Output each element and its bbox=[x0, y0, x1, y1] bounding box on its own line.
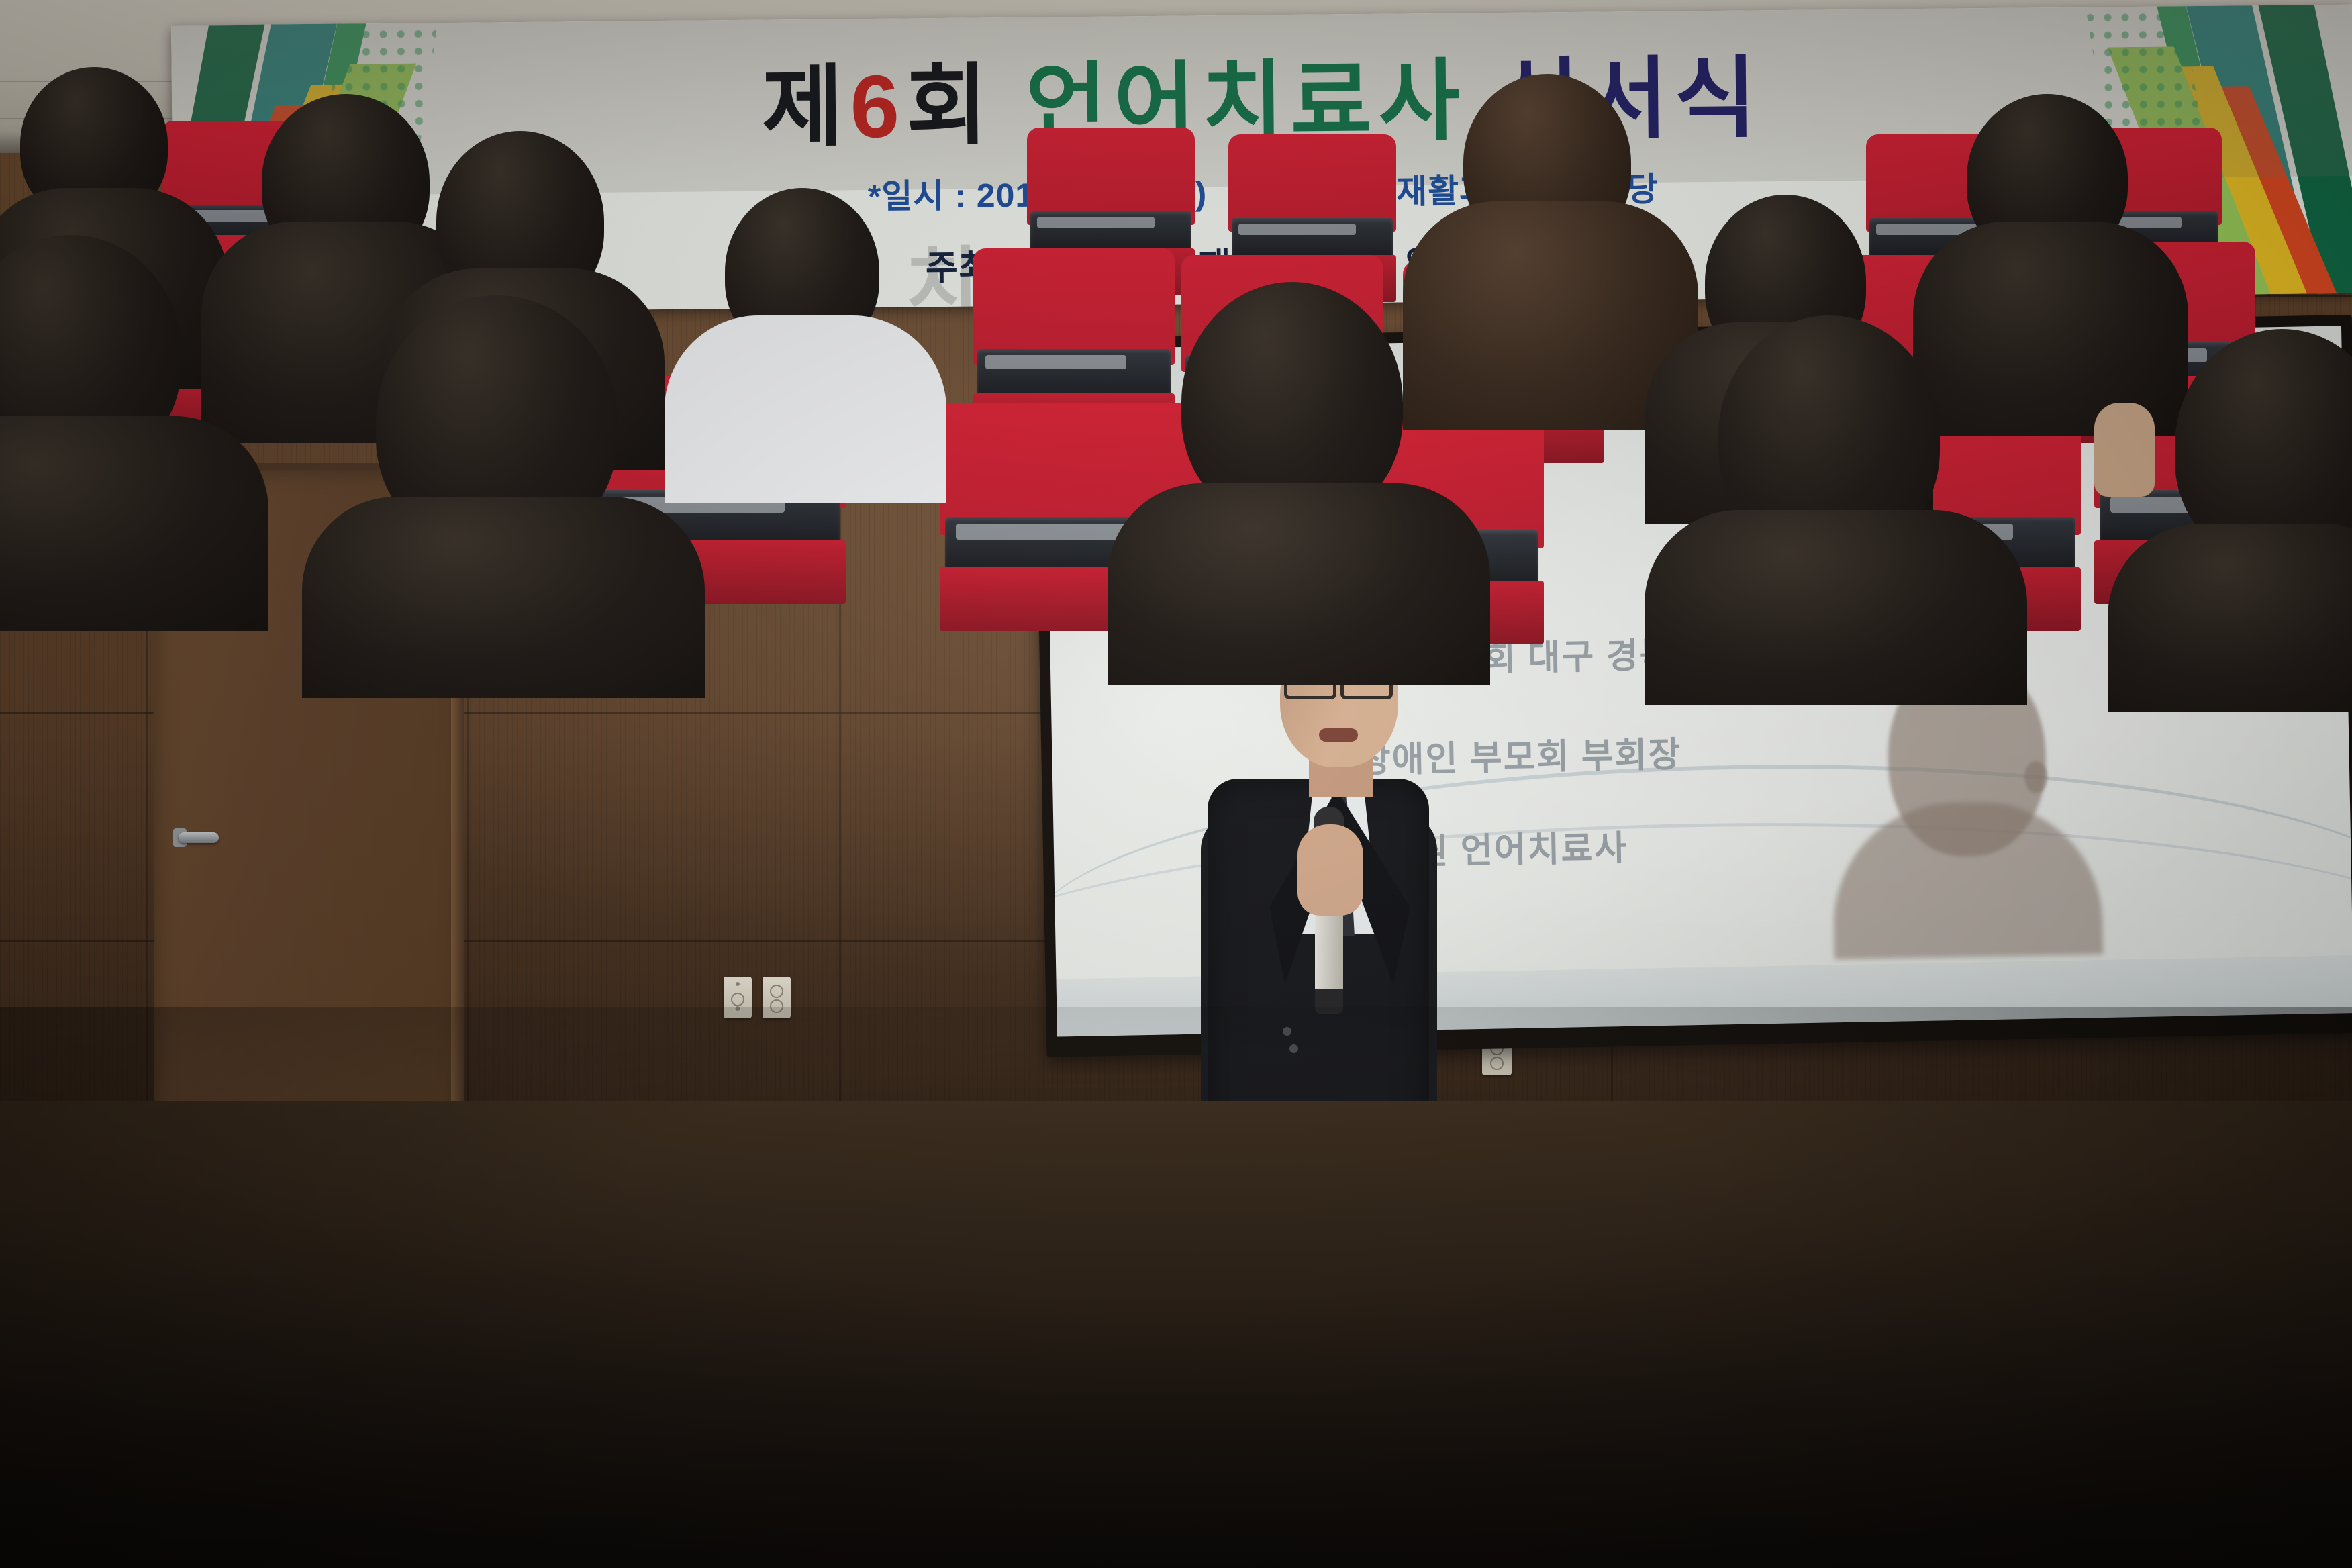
audience-shoulders bbox=[1108, 483, 1490, 685]
banner-title-part: 제 bbox=[761, 57, 850, 156]
audience-shoulders bbox=[1913, 222, 2188, 436]
door-handle[interactable] bbox=[179, 832, 219, 843]
photo-scene: 치사 제6회 언어치료사 선서식 *일시 : 2014. 9. 17(수)*장소… bbox=[0, 0, 2352, 1568]
audience-shoulders bbox=[0, 416, 268, 631]
banner-title-part: 6 bbox=[850, 56, 907, 156]
speaker-hand bbox=[1297, 824, 1363, 916]
audience-shoulders bbox=[665, 315, 946, 503]
audience-shoulders bbox=[302, 497, 705, 698]
microphone bbox=[1315, 906, 1343, 993]
audience-hand bbox=[2094, 403, 2155, 497]
audience-vignette bbox=[0, 1007, 2352, 1568]
audience-shoulders bbox=[2108, 524, 2352, 712]
banner-title-part: 회 bbox=[905, 56, 995, 155]
speaker-mouth bbox=[1319, 728, 1358, 742]
audience-shoulders bbox=[1645, 510, 2027, 705]
